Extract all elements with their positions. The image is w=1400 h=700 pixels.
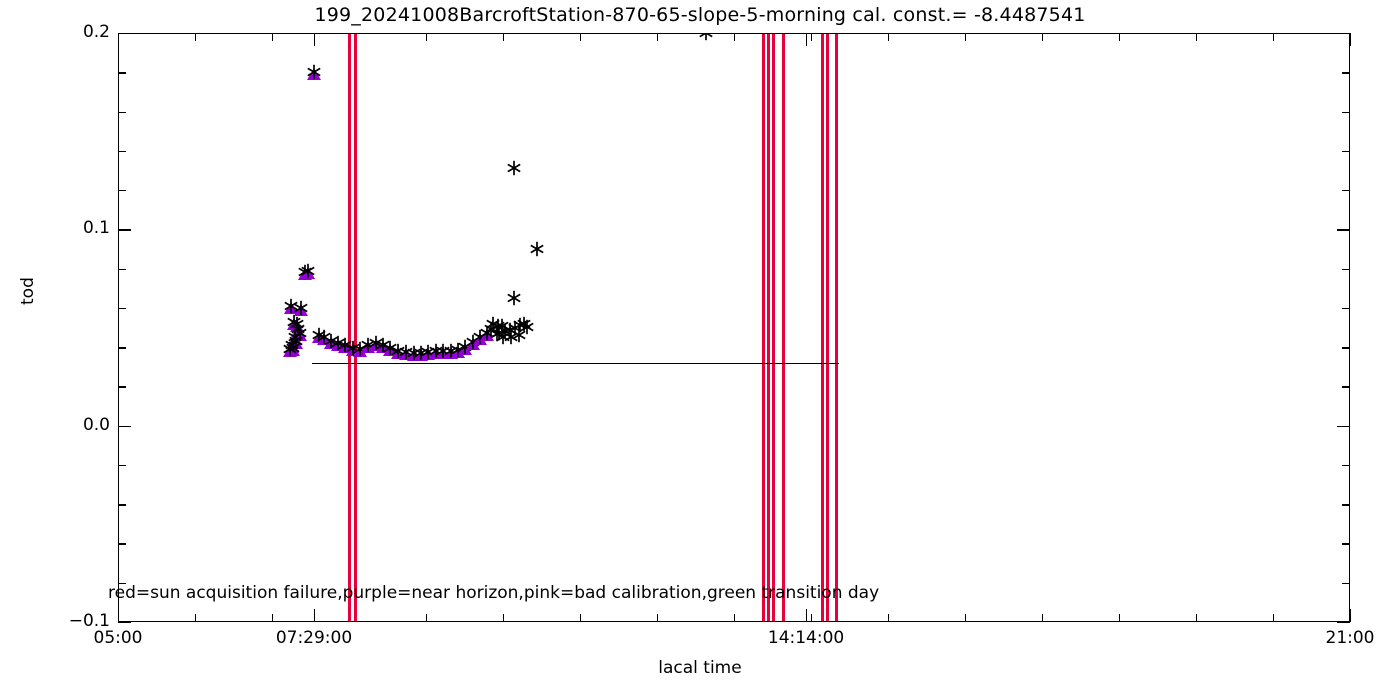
x-tick-label: 21:00 xyxy=(1326,628,1375,648)
plot-canvas: 199_20241008BarcroftStation-870-65-slope… xyxy=(0,0,1400,700)
sun-acquisition-failure-line xyxy=(767,34,770,621)
sun-acquisition-failure-line xyxy=(762,34,765,621)
x-tick-major xyxy=(1350,609,1351,622)
sun-acquisition-failure-line xyxy=(821,34,824,621)
y-tick-label: 0.1 xyxy=(30,218,110,238)
reference-line-segment xyxy=(312,363,839,364)
asterisk-marker-icon xyxy=(529,241,545,257)
asterisk-marker-icon xyxy=(300,263,316,279)
asterisk-marker-icon xyxy=(506,160,522,176)
y-tick-label: 0.2 xyxy=(30,22,110,42)
x-tick-label: 05:00 xyxy=(94,628,143,648)
asterisk-marker-icon xyxy=(698,34,714,41)
sun-acquisition-failure-line xyxy=(354,34,357,621)
asterisk-marker-icon xyxy=(506,290,522,306)
x-axis-title: lacal time xyxy=(0,658,1400,678)
sun-acquisition-failure-line xyxy=(826,34,829,621)
asterisk-marker-icon xyxy=(516,316,532,332)
y-tick-label: 0.0 xyxy=(30,415,110,435)
sun-acquisition-failure-line xyxy=(835,34,838,621)
data-layer xyxy=(119,34,1349,621)
sun-acquisition-failure-line xyxy=(772,34,775,621)
asterisk-marker-icon xyxy=(306,64,322,80)
asterisk-marker-icon xyxy=(282,341,298,357)
page-title: 199_20241008BarcroftStation-870-65-slope… xyxy=(0,4,1400,26)
y-tick-major-right xyxy=(1337,622,1350,623)
legend-note: red=sun acquisition failure,purple=near … xyxy=(108,583,879,603)
sun-acquisition-failure-line xyxy=(348,34,351,621)
x-tick-label: 14:14:00 xyxy=(768,628,844,648)
y-tick-major xyxy=(118,622,131,623)
x-tick-label: 07:29:00 xyxy=(276,628,352,648)
x-tick-major-top xyxy=(1350,33,1351,46)
y-axis-title: tod xyxy=(18,277,38,305)
sun-acquisition-failure-line xyxy=(782,34,785,621)
